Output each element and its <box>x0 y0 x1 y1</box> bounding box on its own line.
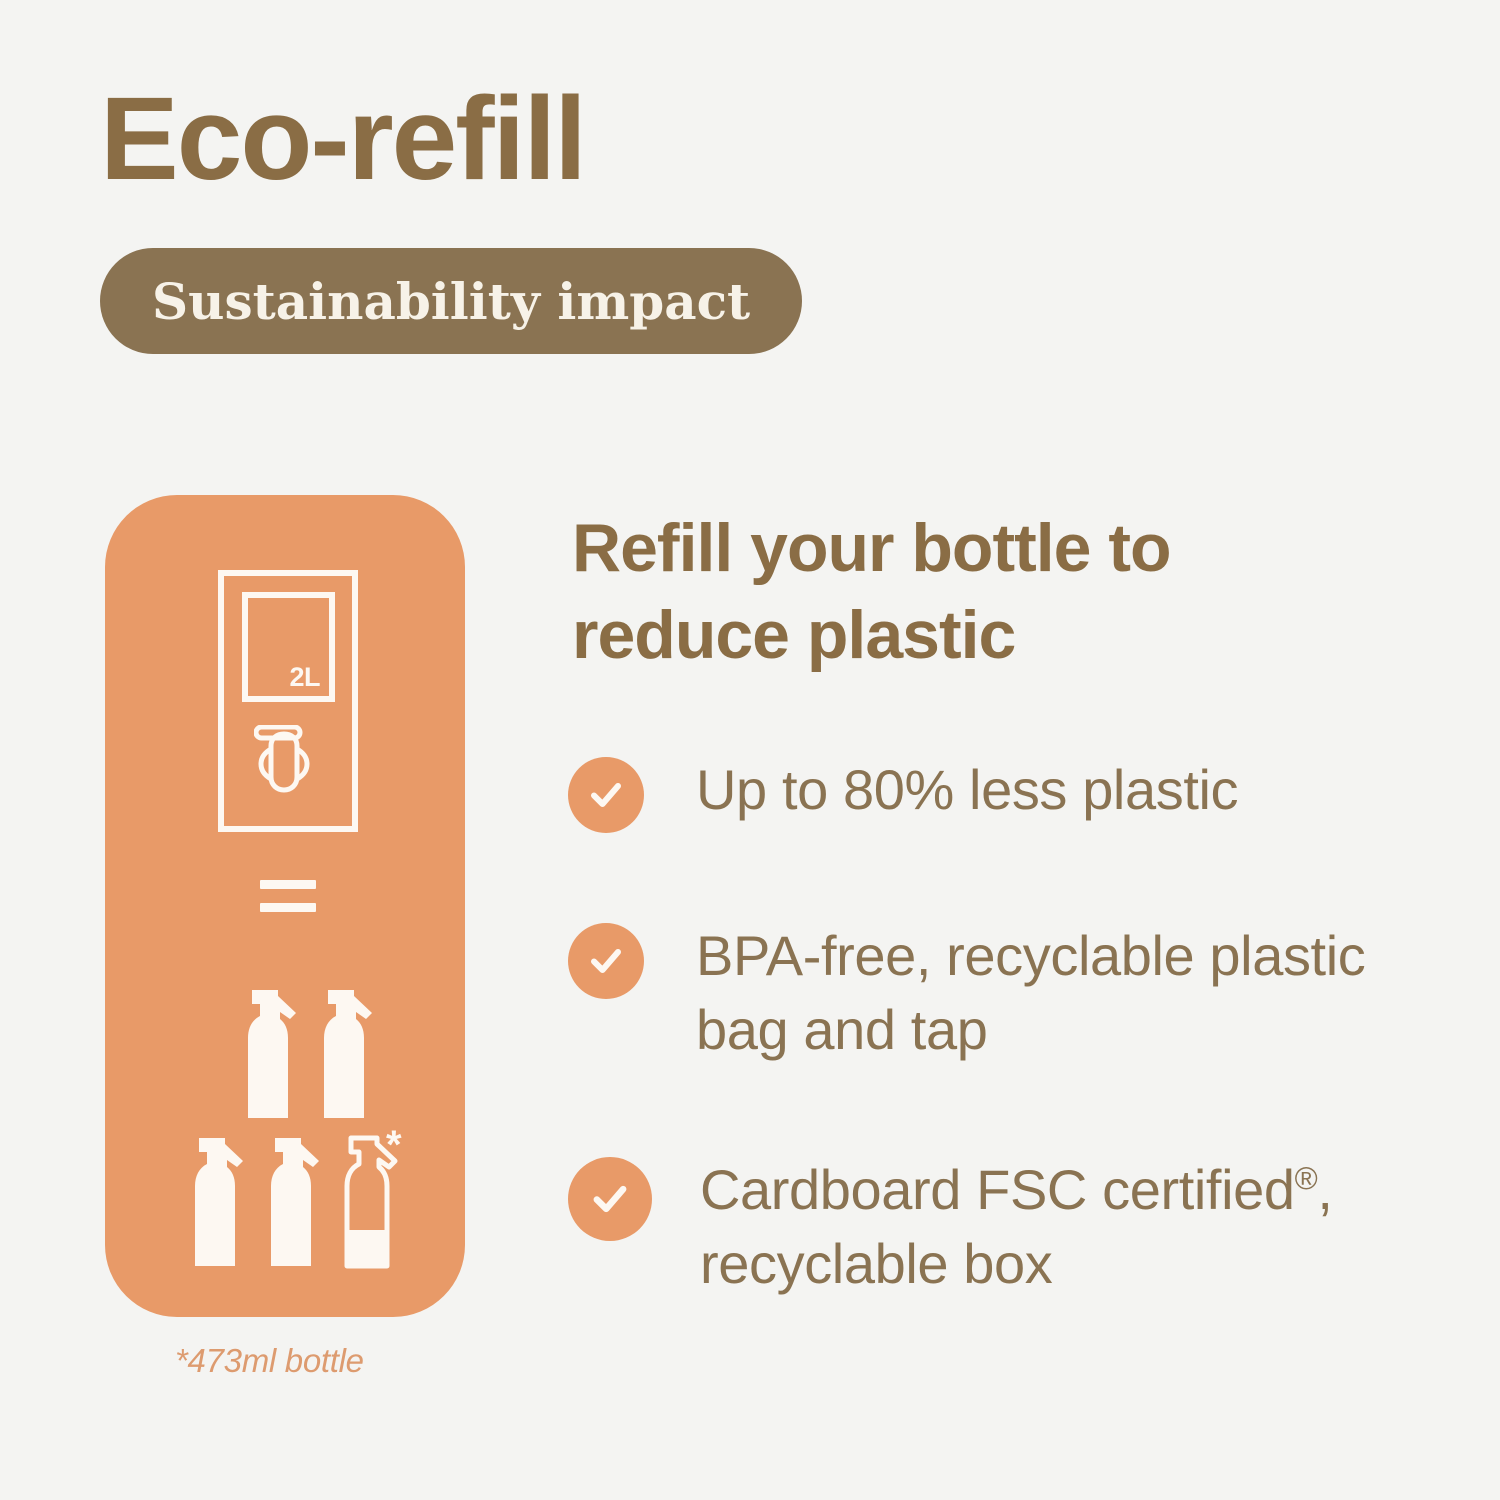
refill-box-icon: 2L <box>218 570 358 832</box>
box-window-outline: 2L <box>242 592 335 702</box>
benefits-list: Up to 80% less plastic BPA-free, recycla… <box>568 753 1448 1301</box>
illustration-contents: 2L <box>105 495 465 1317</box>
infographic-page: Eco-refill Sustainability impact 2L <box>0 0 1500 1500</box>
bottle-row-top <box>240 982 380 1122</box>
list-item: Cardboard FSC certified®, recyclable box <box>568 1153 1448 1301</box>
equals-bar-bottom <box>260 903 316 912</box>
box-volume-label: 2L <box>289 664 320 691</box>
spray-bottle-filled-icon <box>263 1130 327 1270</box>
footnote-text: *473ml bottle <box>175 1342 364 1380</box>
list-item: BPA-free, recyclable plastic bag and tap <box>568 919 1448 1067</box>
registered-trademark-symbol: ® <box>1295 1161 1318 1196</box>
spray-bottles-group: * <box>165 982 415 1282</box>
check-icon <box>568 1157 652 1241</box>
tap-spigot-icon <box>254 725 322 795</box>
list-item: Up to 80% less plastic <box>568 753 1448 833</box>
list-item-label: Cardboard FSC certified®, recyclable box <box>700 1153 1448 1301</box>
check-icon <box>568 757 644 833</box>
badge-label: Sustainability impact <box>152 272 750 331</box>
equals-sign-icon <box>260 880 316 912</box>
sustainability-impact-badge: Sustainability impact <box>100 248 802 354</box>
spray-bottle-filled-icon <box>240 982 304 1122</box>
main-heading: Refill your bottle to reduce plastic <box>572 505 1332 679</box>
check-icon <box>568 923 644 999</box>
bottle-row-bottom <box>187 1130 403 1270</box>
list-item-label-before: Cardboard FSC certified <box>700 1158 1295 1221</box>
asterisk-marker: * <box>386 1125 402 1165</box>
spray-bottle-filled-icon <box>316 982 380 1122</box>
illustration-panel: 2L <box>105 495 465 1317</box>
list-item-label: BPA-free, recyclable plastic bag and tap <box>696 919 1448 1067</box>
spray-bottle-filled-icon <box>187 1130 251 1270</box>
list-item-label: Up to 80% less plastic <box>696 753 1238 827</box>
equals-bar-top <box>260 880 316 889</box>
page-title: Eco-refill <box>100 80 585 198</box>
